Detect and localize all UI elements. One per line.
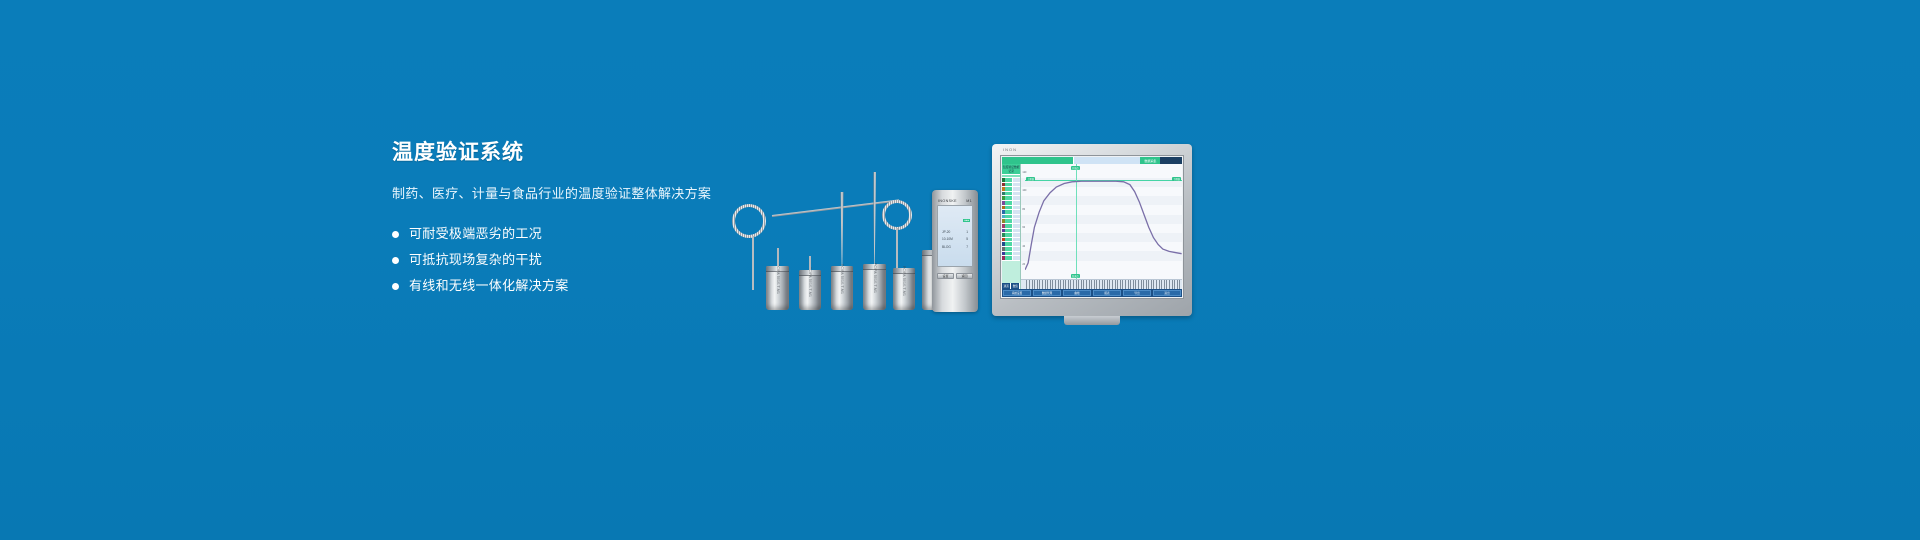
hero-banner: 温度验证系统 制药、医疗、计量与食品行业的温度验证整体解决方案 可耐受极端恶劣的… xyxy=(0,0,1920,540)
product-image-group: PC/PA 5010-T-M1 PC/PA 5010-T-M1 PC/PA 50… xyxy=(700,120,1220,310)
bullet-label: 可抵抗现场复杂的干扰 xyxy=(409,247,542,273)
bullet-dot-icon xyxy=(392,257,399,264)
logger-probe xyxy=(777,248,779,266)
table-row[interactable] xyxy=(1002,256,1020,261)
logger-label: PC/PA 5010-T-M1 xyxy=(873,263,877,293)
handheld-model-label: M1 xyxy=(966,199,972,203)
table-rows xyxy=(1002,178,1020,283)
chart-plot-area: 120 100 80 60 40 20 上限值 下限值 xyxy=(1021,164,1182,279)
button-data-management[interactable]: 数据管理 xyxy=(1033,290,1061,296)
handheld-status-badge: ●●● xyxy=(963,219,970,222)
temperature-logger: PC/PA 5010-T-M1 xyxy=(831,266,853,310)
button-exit[interactable]: 退出 xyxy=(1153,290,1181,296)
handheld-row-value: 1 xyxy=(966,230,968,234)
temperature-curve xyxy=(1025,164,1182,279)
temperature-chart: 120 100 80 60 40 20 上限值 下限值 xyxy=(1021,164,1182,289)
temperature-logger: PC/PA 5010-T-M1 xyxy=(799,270,821,310)
monitor-brand-label: INON xyxy=(1003,147,1017,152)
monitor-frame: INON 数据采集 温度验证数据记录 xyxy=(992,144,1192,316)
software-screen: 数据采集 温度验证数据记录 xyxy=(1002,157,1182,297)
table-title: 温度验证数据记录 xyxy=(1002,164,1020,175)
bullet-label: 可耐受极端恶劣的工况 xyxy=(409,221,542,247)
channel-data-table: 温度验证数据记录 xyxy=(1002,164,1021,289)
app-body: 温度验证数据记录 xyxy=(1002,164,1182,289)
handheld-brand-label: INONSKE xyxy=(938,199,957,203)
temperature-logger: PC/PA 5010-T-M1 xyxy=(893,268,915,310)
handheld-data-row: JP-20 1 xyxy=(940,226,970,234)
sensor-wire xyxy=(772,199,899,216)
logger-label: PC/PA 5010-T-M1 xyxy=(776,264,780,294)
needle-probe xyxy=(841,192,844,266)
coiled-probe-icon xyxy=(882,200,912,230)
handheld-data-row: 10-10M 5 xyxy=(940,234,970,242)
handheld-key-settings[interactable]: 设置 xyxy=(937,273,954,279)
handheld-row-label: JP-20 xyxy=(942,230,950,234)
handheld-keypad[interactable]: 设置 返回 xyxy=(937,273,973,279)
monitor-display: INON 数据采集 温度验证数据记录 xyxy=(992,144,1192,316)
temperature-logger: PC/PA 5010-T-M1 xyxy=(766,266,789,310)
bullet-dot-icon xyxy=(392,283,399,290)
handheld-row-label: BLOG xyxy=(942,245,951,249)
button-system-settings[interactable]: 系统设置 xyxy=(1003,290,1031,296)
temperature-logger: PC/PA 5010-T-M1 xyxy=(863,264,886,310)
handheld-row-label: 10-10M xyxy=(942,237,953,241)
toolbar-spacer xyxy=(1074,157,1140,164)
monitor-stand xyxy=(1064,316,1120,325)
toolbar-tab-acquisition[interactable]: 数据采集 xyxy=(1140,157,1160,164)
button-export[interactable]: 导出 xyxy=(1123,290,1151,296)
logger-label: PC/PA 5010-T-M1 xyxy=(902,266,906,296)
button-curve[interactable]: 曲线 xyxy=(1063,290,1091,296)
logger-probe xyxy=(809,256,811,270)
bullet-label: 有线和无线一体化解决方案 xyxy=(409,273,569,299)
toolbar-title-block xyxy=(1002,157,1074,164)
handheld-row-value: 7 xyxy=(966,245,968,249)
sensor-wire xyxy=(752,236,754,290)
needle-probe xyxy=(873,172,876,264)
app-button-bar[interactable]: 系统设置 数据管理 曲线 报表 导出 退出 xyxy=(1002,289,1182,297)
logger-label: PC/PA 5010-T-M1 xyxy=(840,264,844,294)
monitor-bezel: 数据采集 温度验证数据记录 xyxy=(1000,155,1184,299)
coiled-probe-icon xyxy=(732,204,766,238)
handheld-screen: ●●● JP-20 1 10-10M 5 BLOG 7 xyxy=(937,205,973,267)
chart-time-axis xyxy=(1021,279,1182,289)
bullet-dot-icon xyxy=(392,231,399,238)
toolbar-end-block xyxy=(1160,157,1182,164)
handheld-key-back[interactable]: 返回 xyxy=(956,273,973,279)
button-report[interactable]: 报表 xyxy=(1093,290,1121,296)
app-toolbar[interactable]: 数据采集 xyxy=(1002,157,1182,164)
logger-label: PC/PA 5010-T-M1 xyxy=(808,267,812,297)
handheld-data-row: BLOG 7 xyxy=(940,241,970,249)
handheld-row-value: 5 xyxy=(966,237,968,241)
handheld-reader-device[interactable]: INONSKE M1 ●●● JP-20 1 10-10M 5 BLOG 7 xyxy=(932,190,978,312)
